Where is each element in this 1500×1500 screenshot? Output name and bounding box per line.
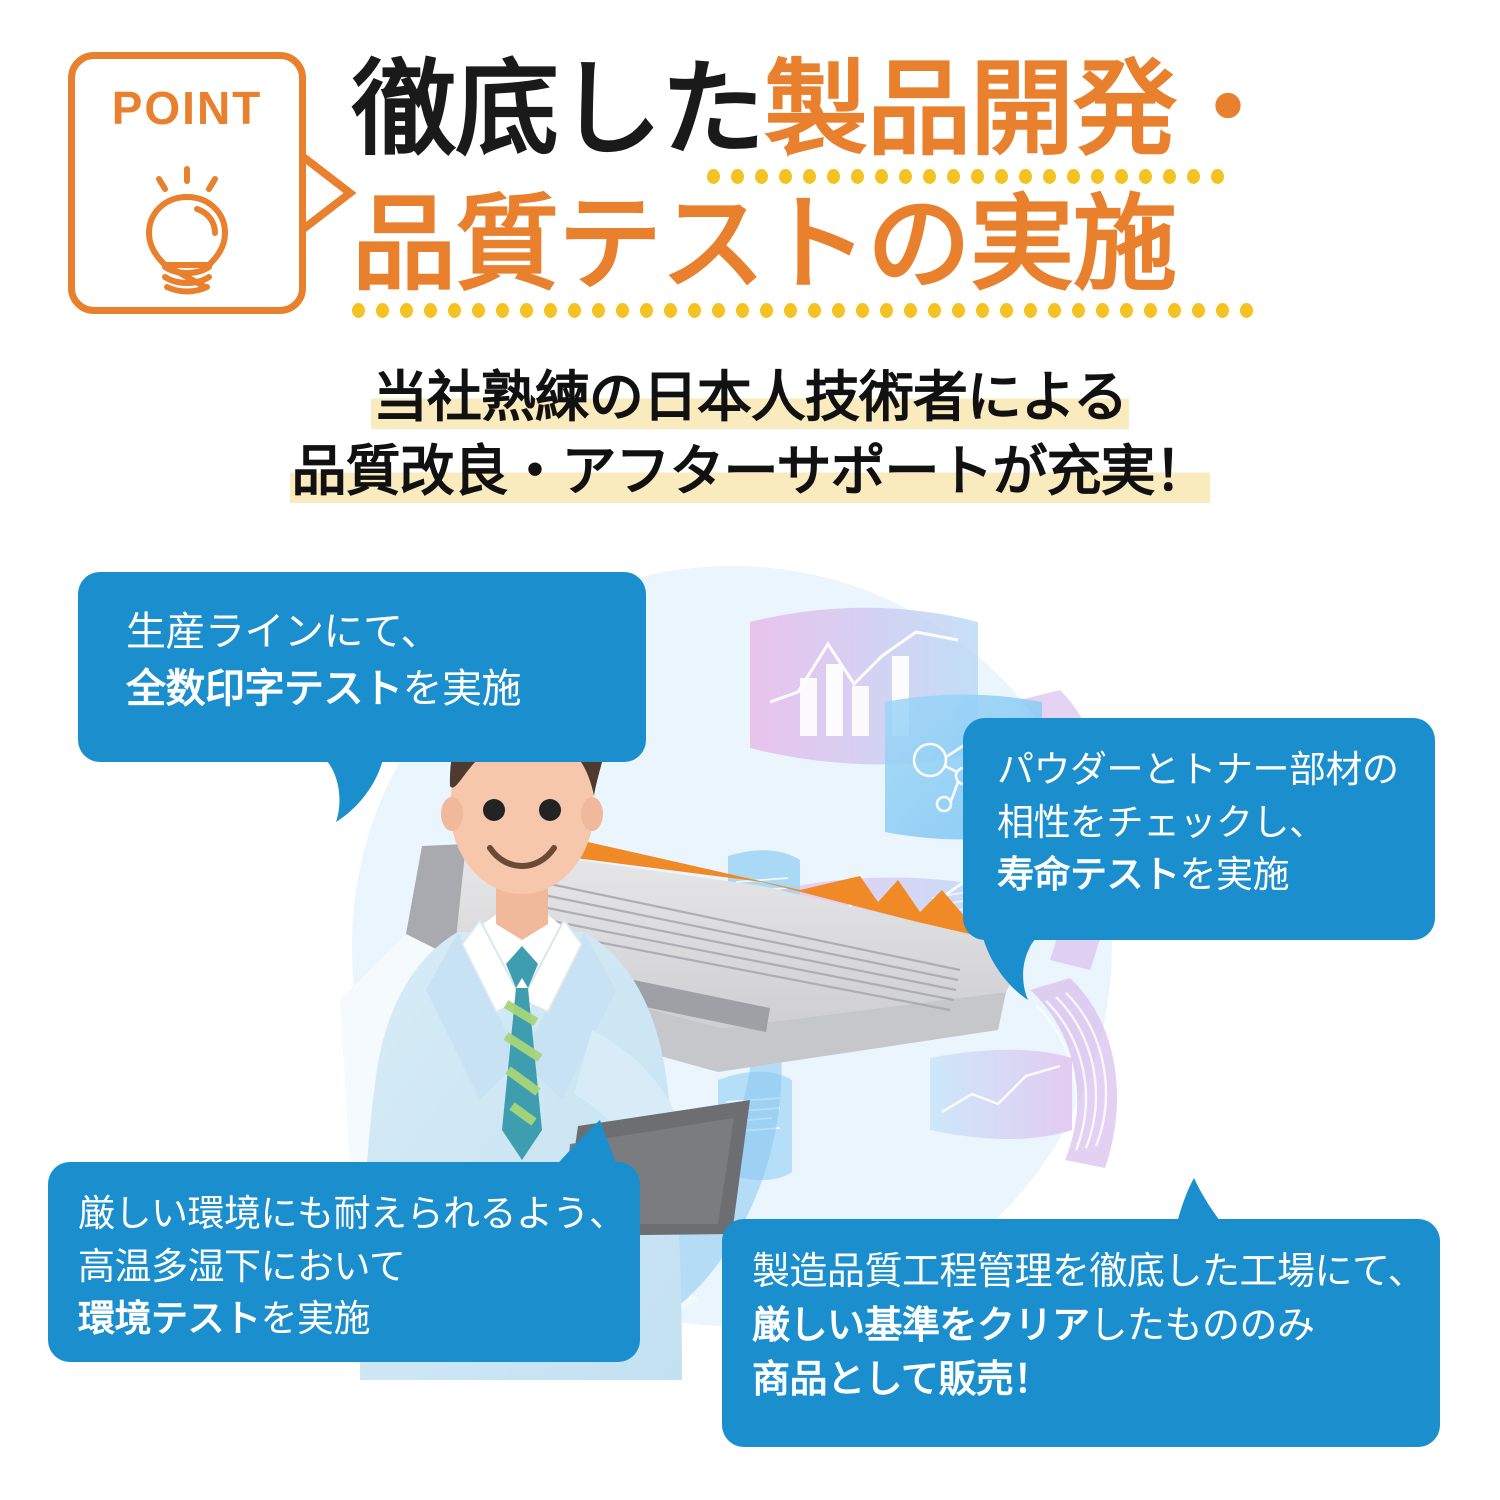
headline-dot [1000,303,1013,318]
bubble3-line3-bold: 環境テスト [78,1297,261,1340]
headline-dot [731,169,744,184]
subtitle-line2: 品質改良・アフターサポートが充実！ [290,439,1211,503]
headline-dot [947,169,960,184]
headline-dot [851,169,864,184]
headline-dot [352,303,365,318]
headline-dot [544,303,557,318]
headline-dot [923,169,936,184]
headline-dot [616,303,629,318]
headline-dot [928,303,941,318]
bubble3-line1-normal: 厳しい環境にも耐えられるよう、 [78,1192,626,1235]
bubble2-line2-normal: 相性をチェックし、 [997,801,1326,844]
headline-dot [640,303,653,318]
bubble2-tail [960,932,1042,1004]
headline-dot [1211,169,1224,184]
headline-dot [1096,303,1109,318]
headline-dot [1168,303,1181,318]
headline-dot [712,303,725,318]
bubble4-line2-bold: 厳しい基準をクリア [752,1303,1090,1347]
bubble1-tail [318,752,398,826]
headline-dot [592,303,605,318]
bubble1-line2-normal: を実施 [403,666,522,712]
headline-dot [779,169,792,184]
headline-dot [1163,169,1176,184]
subtitle-line1: 当社熟練の日本人技術者による [371,365,1129,429]
headline-dot [904,303,917,318]
headline-dots-row-2 [352,299,1282,321]
headline-dot [1072,303,1085,318]
subtitle: 当社熟練の日本人技術者による 品質改良・アフターサポートが充実！ [0,360,1500,509]
headline-dot [1240,303,1253,318]
headline-dot [1192,303,1205,318]
bubble1-line1-normal: 生産ラインにて、 [126,609,440,655]
headline-dot [1115,169,1128,184]
bubble2-line3-bold: 寿命テスト [997,853,1180,896]
headline-line2-orange: 品質テストの実施 [352,183,1176,305]
headline-dot [995,169,1008,184]
headline-dot [760,303,773,318]
headline-dot [688,303,701,318]
headline-dot [976,303,989,318]
headline-dot [784,303,797,318]
headline-dot [520,303,533,318]
bubble3-line3-normal: を実施 [261,1297,371,1340]
bubble1-line2-bold: 全数印字テスト [126,666,403,712]
headline-dot [424,303,437,318]
speech-bubble-factory-standards: 製造品質工程管理を徹底した工場にて、 厳しい基準をクリアしたもののみ 商品として… [722,1219,1440,1447]
speech-bubble-print-test: 生産ラインにて、 全数印字テストを実施 [78,572,646,762]
speech-bubble-environment-test: 厳しい環境にも耐えられるよう、 高温多湿下において 環境テストを実施 [48,1162,640,1362]
headline-dot [808,303,821,318]
headline-dot [736,303,749,318]
headline-dot [1024,303,1037,318]
headline-dot [1048,303,1061,318]
headline-dot [880,303,893,318]
headline-dot [664,303,677,318]
headline-dot [899,169,912,184]
infographic-stage: POINT 徹底した製品開発・ 品質テストの実施 [0,0,1500,1500]
headline-dot [1187,169,1200,184]
headline-dot [827,169,840,184]
headline-dot [875,169,888,184]
point-label: POINT [75,81,299,135]
headline-dot [707,169,720,184]
badge-arrow-icon [296,150,362,236]
headline-dot [400,303,413,318]
speech-bubble-lifespan-test: パウダーとトナー部材の 相性をチェックし、 寿命テストを実施 [963,718,1435,940]
headline-dot [1144,303,1157,318]
headline-dot [971,169,984,184]
bubble4-line2-normal: したもののみ [1090,1303,1315,1347]
headline-dot [856,303,869,318]
headline-dot [376,303,389,318]
bubble3-line2-normal: 高温多湿下において [78,1245,405,1288]
bubble2-line1-normal: パウダーとトナー部材の [997,748,1399,791]
bubble4-line3-bold: 商品として販売！ [752,1357,1051,1401]
headline-line1-black: 徹底した [352,48,764,170]
headline: 徹底した製品開発・ 品質テストの実施 [352,48,1422,317]
headline-dot [496,303,509,318]
headline-dot [1067,169,1080,184]
headline-dot [1216,303,1229,318]
headline-dot [1043,169,1056,184]
headline-dot [952,303,965,318]
headline-dot [1120,303,1133,318]
headline-dot [1139,169,1152,184]
headline-dot [1091,169,1104,184]
headline-dot [832,303,845,318]
headline-dot [803,169,816,184]
bubble2-line3-normal: を実施 [1180,853,1290,896]
bubble4-tail [1160,1178,1236,1238]
headline-line1-orange: 製品開発・ [764,48,1279,170]
headline-dot [755,169,768,184]
headline-dot [472,303,485,318]
lightbulb-icon [129,163,245,297]
headline-dots-row-1 [707,165,1247,187]
point-badge: POINT [68,52,306,314]
headline-dot [448,303,461,318]
bubble3-tail [538,1120,624,1182]
bubble4-line1-normal: 製造品質工程管理を徹底した工場にて、 [752,1249,1425,1293]
headline-dot [1019,169,1032,184]
headline-dot [568,303,581,318]
